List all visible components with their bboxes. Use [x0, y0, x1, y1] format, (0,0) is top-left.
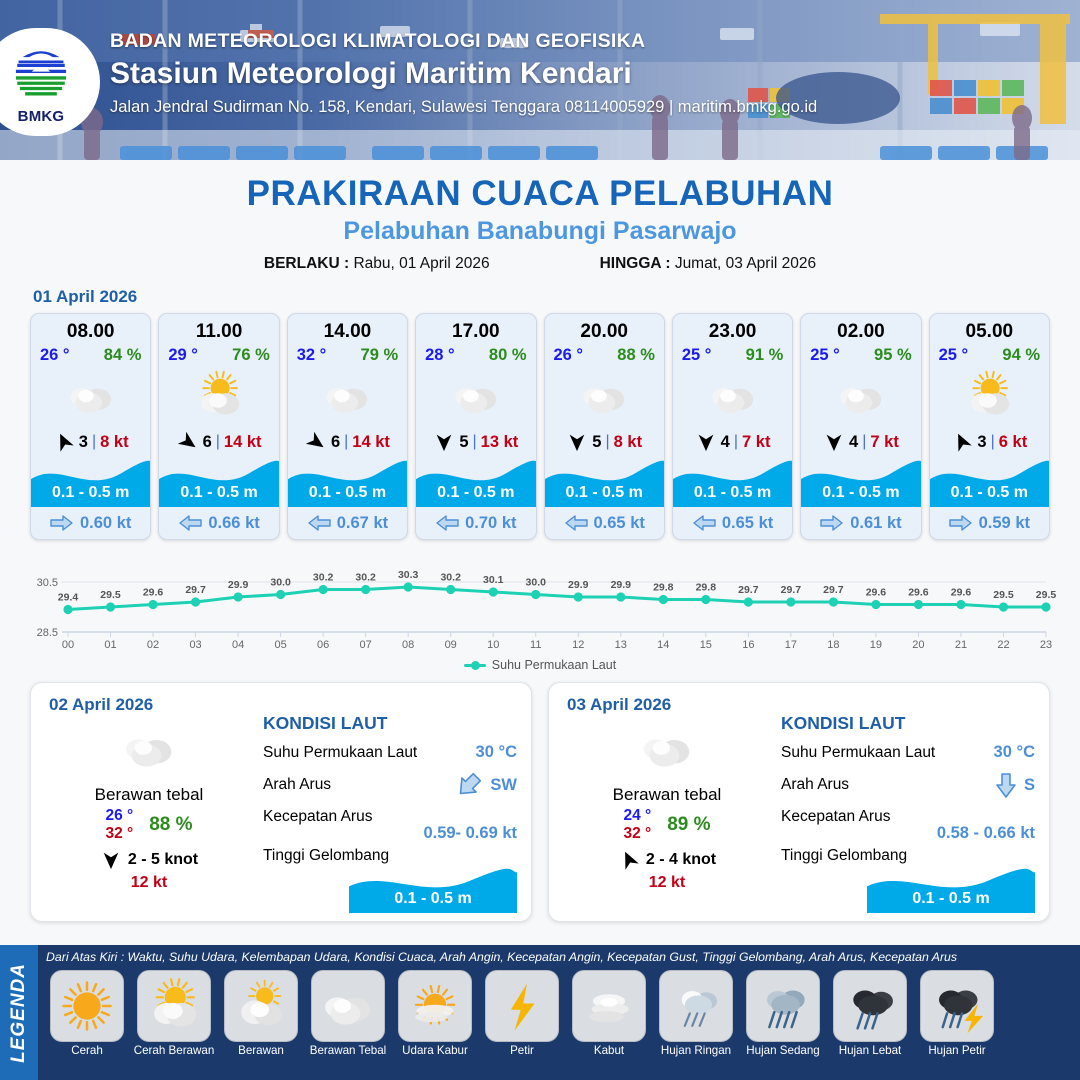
- daily-weather-icon: [567, 717, 767, 779]
- weather-icon-berawan: [230, 975, 292, 1037]
- legend-item: Berawan: [220, 970, 302, 1057]
- card-humidity: 94 %: [1002, 346, 1040, 365]
- daily-wave-value: 0.1 - 0.5 m: [867, 890, 1035, 908]
- legend-item-label: Berawan Tebal: [307, 1044, 389, 1057]
- card-wind: 5 | 13 kt: [416, 427, 535, 457]
- contact-info: Jalan Jendral Sudirman No. 158, Kendari,…: [110, 98, 817, 117]
- card-wind-speed: 8 kt: [100, 433, 128, 452]
- weather-icon-berawan-tebal: [63, 368, 119, 424]
- card-wave: 0.1 - 0.5 m: [31, 459, 150, 507]
- valid-until-label: HINGGA :: [600, 255, 671, 272]
- hourly-card[interactable]: 02.00 25 ° 95 % 4 | 7 kt 0.1 - 0.5 m 0.6…: [800, 313, 921, 540]
- card-weather-icon: [545, 367, 664, 425]
- svg-text:30.1: 30.1: [483, 574, 504, 586]
- card-wave: 0.1 - 0.5 m: [930, 459, 1049, 507]
- card-wind-speed: 7 kt: [742, 433, 770, 452]
- legend-item: Hujan Sedang: [742, 970, 824, 1057]
- card-current-value: 0.67 kt: [337, 514, 388, 533]
- weather-icon-hujan-ringan: [665, 975, 727, 1037]
- svg-text:15: 15: [700, 639, 712, 651]
- svg-text:29.5: 29.5: [100, 589, 121, 601]
- card-wave-value: 0.1 - 0.5 m: [545, 484, 664, 502]
- svg-text:29.7: 29.7: [781, 584, 802, 596]
- card-wave-value: 0.1 - 0.5 m: [673, 484, 792, 502]
- card-wave-value: 0.1 - 0.5 m: [801, 484, 920, 502]
- svg-text:19: 19: [870, 639, 882, 651]
- weather-icon-berawan-tebal: [319, 368, 375, 424]
- weather-icon-hujan-petir: [926, 975, 988, 1037]
- current-direction-sw-icon: [454, 771, 484, 799]
- card-current: 0.65 kt: [673, 507, 792, 539]
- valid-from-value: Rabu, 01 April 2026: [353, 255, 489, 272]
- card-current-value: 0.66 kt: [208, 514, 259, 533]
- weather-icon-berawan-tebal: [118, 717, 180, 779]
- card-wind-speed: 14 kt: [352, 433, 390, 452]
- daily-condition: Berawan tebal: [49, 785, 249, 805]
- wind-divider: |: [862, 433, 866, 451]
- current-direction-s-icon: [994, 771, 1018, 799]
- daily-date: 02 April 2026: [49, 695, 515, 715]
- svg-text:18: 18: [827, 639, 839, 651]
- legend-item-label: Cerah Berawan: [133, 1044, 215, 1057]
- sea-conditions-title: KONDISI LAUT: [263, 713, 517, 734]
- sst-value: 30 °C: [476, 743, 517, 762]
- valid-from: BERLAKU : Rabu, 01 April 2026: [264, 255, 490, 273]
- weather-icon-cerah-berawan: [961, 368, 1017, 424]
- legend-note: Dari Atas Kiri : Waktu, Suhu Udara, Kele…: [46, 950, 1074, 964]
- legend-icon-hujan-petir: [920, 970, 994, 1042]
- sea-conditions-title: KONDISI LAUT: [781, 713, 1035, 734]
- hourly-card[interactable]: 05.00 25 ° 94 % 3 | 6 kt 0.1 - 0.5 m 0.5…: [929, 313, 1050, 540]
- legend-icon-hujan-ringan: [659, 970, 733, 1042]
- legend-icon-hujan-lebat: [833, 970, 907, 1042]
- legend-item: Udara Kabur: [394, 970, 476, 1057]
- svg-text:30.2: 30.2: [355, 572, 376, 584]
- daily-wind-range: 2 - 4 knot: [646, 851, 716, 869]
- card-wave: 0.1 - 0.5 m: [288, 459, 407, 507]
- legend-item: Hujan Petir: [916, 970, 998, 1057]
- card-temperature: 25 °: [810, 346, 840, 365]
- card-wind-speed: 14 kt: [224, 433, 262, 452]
- daily-wind: 2 - 5 knot: [49, 849, 249, 871]
- legend-item: Hujan Lebat: [829, 970, 911, 1057]
- card-weather-icon: [930, 367, 1049, 425]
- svg-text:29.9: 29.9: [228, 579, 249, 591]
- card-wave: 0.1 - 0.5 m: [801, 459, 920, 507]
- svg-text:16: 16: [742, 639, 754, 651]
- wind-direction-arrow: [100, 849, 122, 871]
- card-humidity: 80 %: [489, 346, 527, 365]
- card-temperature: 32 °: [297, 346, 327, 365]
- current-dir-value: S: [1024, 776, 1035, 795]
- card-temperature: 26 °: [40, 346, 70, 365]
- card-wave-value: 0.1 - 0.5 m: [416, 484, 535, 502]
- current-speed-label: Kecepatan Arus: [263, 808, 372, 826]
- svg-text:11: 11: [530, 639, 541, 651]
- weather-icon-berawan-tebal: [576, 368, 632, 424]
- card-time: 02.00: [801, 314, 920, 343]
- card-wind-speed: 7 kt: [870, 433, 898, 452]
- card-wind-dir: 5: [459, 433, 468, 452]
- card-temperature: 28 °: [425, 346, 455, 365]
- card-wind-speed: 8 kt: [614, 433, 642, 452]
- svg-text:29.6: 29.6: [143, 587, 164, 599]
- card-weather-icon: [801, 367, 920, 425]
- card-current: 0.66 kt: [159, 507, 278, 539]
- card-weather-icon: [673, 367, 792, 425]
- valid-until-value: Jumat, 03 April 2026: [675, 255, 816, 272]
- legend-item-label: Hujan Ringan: [655, 1044, 737, 1057]
- weather-icon-berawan-tebal: [833, 368, 889, 424]
- wind-direction-arrow: [618, 849, 640, 871]
- svg-text:21: 21: [955, 639, 967, 651]
- card-humidity: 76 %: [232, 346, 270, 365]
- current-direction-arrow: [50, 514, 74, 532]
- card-time: 14.00: [288, 314, 407, 343]
- card-current: 0.70 kt: [416, 507, 535, 539]
- svg-text:29.7: 29.7: [738, 584, 759, 596]
- card-time: 20.00: [545, 314, 664, 343]
- card-wave-value: 0.1 - 0.5 m: [31, 484, 150, 502]
- card-current: 0.61 kt: [801, 507, 920, 539]
- svg-text:14: 14: [657, 639, 669, 651]
- card-wind: 6 | 14 kt: [159, 427, 278, 457]
- wave-height-label: Tinggi Gelombang: [263, 847, 389, 865]
- card-wind: 4 | 7 kt: [801, 427, 920, 457]
- daily-temp-max: 32 °: [105, 825, 133, 843]
- wind-direction-arrow: [433, 431, 455, 453]
- card-current-value: 0.70 kt: [465, 514, 516, 533]
- svg-text:29.6: 29.6: [951, 587, 972, 599]
- daily-temp-max: 32 °: [623, 825, 651, 843]
- weather-icon-hujan-sedang: [752, 975, 814, 1037]
- page-header: BMKG BADAN METEOROLOGI KLIMATOLOGI DAN G…: [0, 0, 1080, 160]
- card-time: 11.00: [159, 314, 278, 343]
- card-wave: 0.1 - 0.5 m: [673, 459, 792, 507]
- wind-divider: |: [991, 433, 995, 451]
- weather-icon-berawan-tebal: [317, 975, 379, 1037]
- current-direction-arrow: [564, 514, 588, 532]
- svg-text:12: 12: [572, 639, 584, 651]
- legend-item: Berawan Tebal: [307, 970, 389, 1057]
- current-direction-arrow: [307, 514, 331, 532]
- current-speed-label: Kecepatan Arus: [781, 808, 890, 826]
- wind-direction-arrow: [53, 431, 75, 453]
- svg-text:29.7: 29.7: [185, 584, 206, 596]
- wind-direction-arrow: [951, 431, 973, 453]
- svg-text:03: 03: [189, 639, 201, 651]
- sst-value: 30 °C: [994, 743, 1035, 762]
- card-wind-dir: 4: [721, 433, 730, 452]
- daily-card[interactable]: 02 April 2026 Berawan tebal 26 ° 32 ° 88…: [30, 682, 532, 922]
- daily-wave-value: 0.1 - 0.5 m: [349, 890, 517, 908]
- card-wind: 3 | 8 kt: [31, 427, 150, 457]
- hourly-forecast-row: 08.00 26 ° 84 % 3 | 8 kt 0.1 - 0.5 m 0.6…: [0, 313, 1080, 540]
- legend-item: Hujan Ringan: [655, 970, 737, 1057]
- legend-items: Cerah Cerah Berawan Berawan Berawan Teba…: [46, 970, 1074, 1057]
- daily-humidity: 88 %: [149, 814, 192, 836]
- weather-icon-berawan-tebal: [705, 368, 761, 424]
- card-wave-value: 0.1 - 0.5 m: [930, 484, 1049, 502]
- svg-text:29.5: 29.5: [993, 589, 1014, 601]
- svg-text:13: 13: [615, 639, 627, 651]
- card-wave-value: 0.1 - 0.5 m: [288, 484, 407, 502]
- card-weather-icon: [31, 367, 150, 425]
- legend-item: Cerah Berawan: [133, 970, 215, 1057]
- legend-item-label: Hujan Sedang: [742, 1044, 824, 1057]
- current-dir-label: Arah Arus: [263, 776, 331, 794]
- card-current-value: 0.60 kt: [80, 514, 131, 533]
- valid-from-label: BERLAKU :: [264, 255, 349, 272]
- legend-item-label: Hujan Petir: [916, 1044, 998, 1057]
- daily-humidity: 89 %: [667, 814, 710, 836]
- daily-forecast-row: 02 April 2026 Berawan tebal 26 ° 32 ° 88…: [0, 672, 1080, 922]
- weather-icon-kabut: [578, 975, 640, 1037]
- svg-text:20: 20: [912, 639, 924, 651]
- card-current: 0.60 kt: [31, 507, 150, 539]
- svg-text:00: 00: [62, 639, 74, 651]
- svg-text:29.6: 29.6: [908, 587, 929, 599]
- organization-name: BADAN METEOROLOGI KLIMATOLOGI DAN GEOFIS…: [110, 30, 817, 53]
- card-wind: 3 | 6 kt: [930, 427, 1049, 457]
- card-humidity: 88 %: [617, 346, 655, 365]
- svg-text:29.6: 29.6: [866, 587, 887, 599]
- weather-icon-cerah: [56, 975, 118, 1037]
- bmkg-logo-mark: [8, 39, 74, 107]
- legend-icon-petir: [485, 970, 559, 1042]
- hourly-date-label: 01 April 2026: [33, 287, 1080, 307]
- sst-label: Suhu Permukaan Laut: [263, 744, 417, 762]
- svg-text:10: 10: [487, 639, 499, 651]
- card-temperature: 29 °: [168, 346, 198, 365]
- card-wind-dir: 4: [849, 433, 858, 452]
- legend-icon-udara-kabur: [398, 970, 472, 1042]
- svg-text:08: 08: [402, 639, 414, 651]
- wind-divider: |: [734, 433, 738, 451]
- card-current-value: 0.65 kt: [722, 514, 773, 533]
- chart-legend: Suhu Permukaan Laut: [0, 658, 1080, 672]
- card-wind-speed: 6 kt: [999, 433, 1027, 452]
- hourly-card[interactable]: 20.00 26 ° 88 % 5 | 8 kt 0.1 - 0.5 m 0.6…: [544, 313, 665, 540]
- svg-text:06: 06: [317, 639, 329, 651]
- daily-date: 03 April 2026: [567, 695, 1033, 715]
- svg-text:23: 23: [1040, 639, 1052, 651]
- card-wave: 0.1 - 0.5 m: [416, 459, 535, 507]
- svg-text:01: 01: [104, 639, 116, 651]
- wind-direction-arrow: [695, 431, 717, 453]
- svg-text:30.0: 30.0: [270, 577, 291, 589]
- legend-item-label: Petir: [481, 1044, 563, 1057]
- legend-item-label: Kabut: [568, 1044, 650, 1057]
- svg-text:30.2: 30.2: [313, 572, 334, 584]
- current-direction-arrow: [178, 514, 202, 532]
- daily-wave-box: 0.1 - 0.5 m: [349, 867, 517, 913]
- legend-icon-cerah-berawan: [137, 970, 211, 1042]
- legend-icon-berawan-tebal: [311, 970, 385, 1042]
- weather-icon-berawan-tebal: [636, 717, 698, 779]
- card-wind-dir: 6: [331, 433, 340, 452]
- weather-icon-udara-kabur: [404, 975, 466, 1037]
- wind-divider: |: [344, 433, 348, 451]
- legend-item-label: Udara Kabur: [394, 1044, 476, 1057]
- card-wind: 6 | 14 kt: [288, 427, 407, 457]
- current-dir-value: SW: [490, 776, 517, 795]
- weather-icon-cerah-berawan: [143, 975, 205, 1037]
- current-dir-label: Arah Arus: [781, 776, 849, 794]
- card-temperature: 25 °: [682, 346, 712, 365]
- current-speed-value: 0.59- 0.69 kt: [263, 824, 517, 843]
- svg-text:28.5: 28.5: [37, 627, 58, 639]
- hourly-card[interactable]: 17.00 28 ° 80 % 5 | 13 kt 0.1 - 0.5 m 0.…: [415, 313, 536, 540]
- daily-temp-min: 24 °: [623, 807, 651, 825]
- bmkg-logo-text: BMKG: [18, 108, 65, 125]
- hourly-card[interactable]: 23.00 25 ° 91 % 4 | 7 kt 0.1 - 0.5 m 0.6…: [672, 313, 793, 540]
- sst-label: Suhu Permukaan Laut: [781, 744, 935, 762]
- weather-icon-petir: [491, 975, 553, 1037]
- legend-side-bar: LEGENDA: [0, 945, 38, 1080]
- legend-icon-berawan: [224, 970, 298, 1042]
- legend-icon-hujan-sedang: [746, 970, 820, 1042]
- card-time: 05.00: [930, 314, 1049, 343]
- svg-text:04: 04: [232, 639, 244, 651]
- wind-divider: |: [605, 433, 609, 451]
- card-current-value: 0.65 kt: [594, 514, 645, 533]
- card-weather-icon: [159, 367, 278, 425]
- wind-direction-arrow: [566, 431, 588, 453]
- card-weather-icon: [288, 367, 407, 425]
- daily-gust: 12 kt: [49, 874, 249, 892]
- svg-text:22: 22: [997, 639, 1009, 651]
- svg-text:29.8: 29.8: [653, 582, 674, 594]
- svg-text:30.2: 30.2: [440, 572, 461, 584]
- legend-item: Petir: [481, 970, 563, 1057]
- card-wind-dir: 6: [203, 433, 212, 452]
- daily-weather-icon: [49, 717, 249, 779]
- svg-text:09: 09: [445, 639, 457, 651]
- current-dir-value-wrap: S: [994, 771, 1035, 799]
- card-wave-value: 0.1 - 0.5 m: [159, 484, 278, 502]
- card-humidity: 91 %: [746, 346, 784, 365]
- card-current: 0.59 kt: [930, 507, 1049, 539]
- card-wind: 5 | 8 kt: [545, 427, 664, 457]
- card-wind-dir: 3: [977, 433, 986, 452]
- title-block: PRAKIRAAN CUACA PELABUHAN Pelabuhan Bana…: [0, 160, 1080, 273]
- hourly-card[interactable]: 08.00 26 ° 84 % 3 | 8 kt 0.1 - 0.5 m 0.6…: [30, 313, 151, 540]
- current-speed-value: 0.58 - 0.66 kt: [781, 824, 1035, 843]
- svg-text:02: 02: [147, 639, 159, 651]
- daily-condition: Berawan tebal: [567, 785, 767, 805]
- svg-text:29.9: 29.9: [611, 579, 632, 591]
- card-current-value: 0.59 kt: [979, 514, 1030, 533]
- legend-item-label: Hujan Lebat: [829, 1044, 911, 1057]
- station-name: Stasiun Meteorologi Maritim Kendari: [110, 57, 817, 91]
- legend-main: Dari Atas Kiri : Waktu, Suhu Udara, Kele…: [38, 945, 1080, 1080]
- card-temperature: 25 °: [939, 346, 969, 365]
- wind-divider: |: [92, 433, 96, 451]
- legend-item: Cerah: [46, 970, 128, 1057]
- chart-legend-label: Suhu Permukaan Laut: [492, 658, 616, 672]
- svg-text:29.4: 29.4: [58, 592, 79, 604]
- weather-icon-cerah-berawan: [191, 368, 247, 424]
- current-dir-value-wrap: SW: [454, 771, 517, 799]
- daily-wind-range: 2 - 5 knot: [128, 851, 198, 869]
- card-wind-dir: 3: [79, 433, 88, 452]
- daily-wave-box: 0.1 - 0.5 m: [867, 867, 1035, 913]
- card-humidity: 84 %: [104, 346, 142, 365]
- hourly-card[interactable]: 14.00 32 ° 79 % 6 | 14 kt 0.1 - 0.5 m 0.…: [287, 313, 408, 540]
- daily-gust: 12 kt: [567, 874, 767, 892]
- card-current: 0.65 kt: [545, 507, 664, 539]
- wind-direction-arrow: [305, 431, 327, 453]
- validity-row: BERLAKU : Rabu, 01 April 2026 HINGGA : J…: [0, 255, 1080, 273]
- card-current: 0.67 kt: [288, 507, 407, 539]
- wave-height-label: Tinggi Gelombang: [781, 847, 907, 865]
- card-time: 23.00: [673, 314, 792, 343]
- wind-divider: |: [216, 433, 220, 451]
- daily-temp-min: 26 °: [105, 807, 133, 825]
- card-time: 17.00: [416, 314, 535, 343]
- current-direction-arrow: [692, 514, 716, 532]
- svg-text:30.3: 30.3: [398, 569, 419, 581]
- current-direction-arrow: [435, 514, 459, 532]
- svg-text:30.0: 30.0: [526, 577, 547, 589]
- svg-text:29.9: 29.9: [568, 579, 589, 591]
- legend-item: Kabut: [568, 970, 650, 1057]
- svg-text:29.7: 29.7: [823, 584, 844, 596]
- card-temperature: 26 °: [554, 346, 584, 365]
- daily-wind: 2 - 4 knot: [567, 849, 767, 871]
- card-wave: 0.1 - 0.5 m: [159, 459, 278, 507]
- svg-text:29.8: 29.8: [696, 582, 717, 594]
- sst-chart: 30.528.500010203040506070809101112131415…: [20, 554, 1060, 654]
- card-wind-speed: 13 kt: [481, 433, 519, 452]
- page-subtitle: Pelabuhan Banabungi Pasarwajo: [0, 217, 1080, 246]
- svg-text:30.5: 30.5: [37, 577, 58, 589]
- card-wave: 0.1 - 0.5 m: [545, 459, 664, 507]
- svg-text:17: 17: [785, 639, 797, 651]
- card-current-value: 0.61 kt: [850, 514, 901, 533]
- svg-text:07: 07: [360, 639, 372, 651]
- legend-icon-cerah: [50, 970, 124, 1042]
- current-direction-arrow: [949, 514, 973, 532]
- wind-direction-arrow: [177, 431, 199, 453]
- card-time: 08.00: [31, 314, 150, 343]
- chart-legend-swatch: [464, 664, 486, 667]
- legend-item-label: Cerah: [46, 1044, 128, 1057]
- wind-divider: |: [473, 433, 477, 451]
- weather-icon-berawan-tebal: [448, 368, 504, 424]
- card-weather-icon: [416, 367, 535, 425]
- daily-card[interactable]: 03 April 2026 Berawan tebal 24 ° 32 ° 89…: [548, 682, 1050, 922]
- legend-section: LEGENDA Dari Atas Kiri : Waktu, Suhu Uda…: [0, 945, 1080, 1080]
- legend-side-label: LEGENDA: [8, 963, 30, 1063]
- card-humidity: 95 %: [874, 346, 912, 365]
- svg-text:29.5: 29.5: [1036, 589, 1057, 601]
- wind-direction-arrow: [823, 431, 845, 453]
- svg-text:05: 05: [274, 639, 286, 651]
- valid-until: HINGGA : Jumat, 03 April 2026: [600, 255, 817, 273]
- card-humidity: 79 %: [361, 346, 399, 365]
- current-direction-arrow: [820, 514, 844, 532]
- page-title: PRAKIRAAN CUACA PELABUHAN: [0, 174, 1080, 214]
- card-wind-dir: 5: [592, 433, 601, 452]
- legend-item-label: Berawan: [220, 1044, 302, 1057]
- hourly-card[interactable]: 11.00 29 ° 76 % 6 | 14 kt 0.1 - 0.5 m 0.…: [158, 313, 279, 540]
- legend-icon-kabut: [572, 970, 646, 1042]
- card-wind: 4 | 7 kt: [673, 427, 792, 457]
- weather-icon-hujan-lebat: [839, 975, 901, 1037]
